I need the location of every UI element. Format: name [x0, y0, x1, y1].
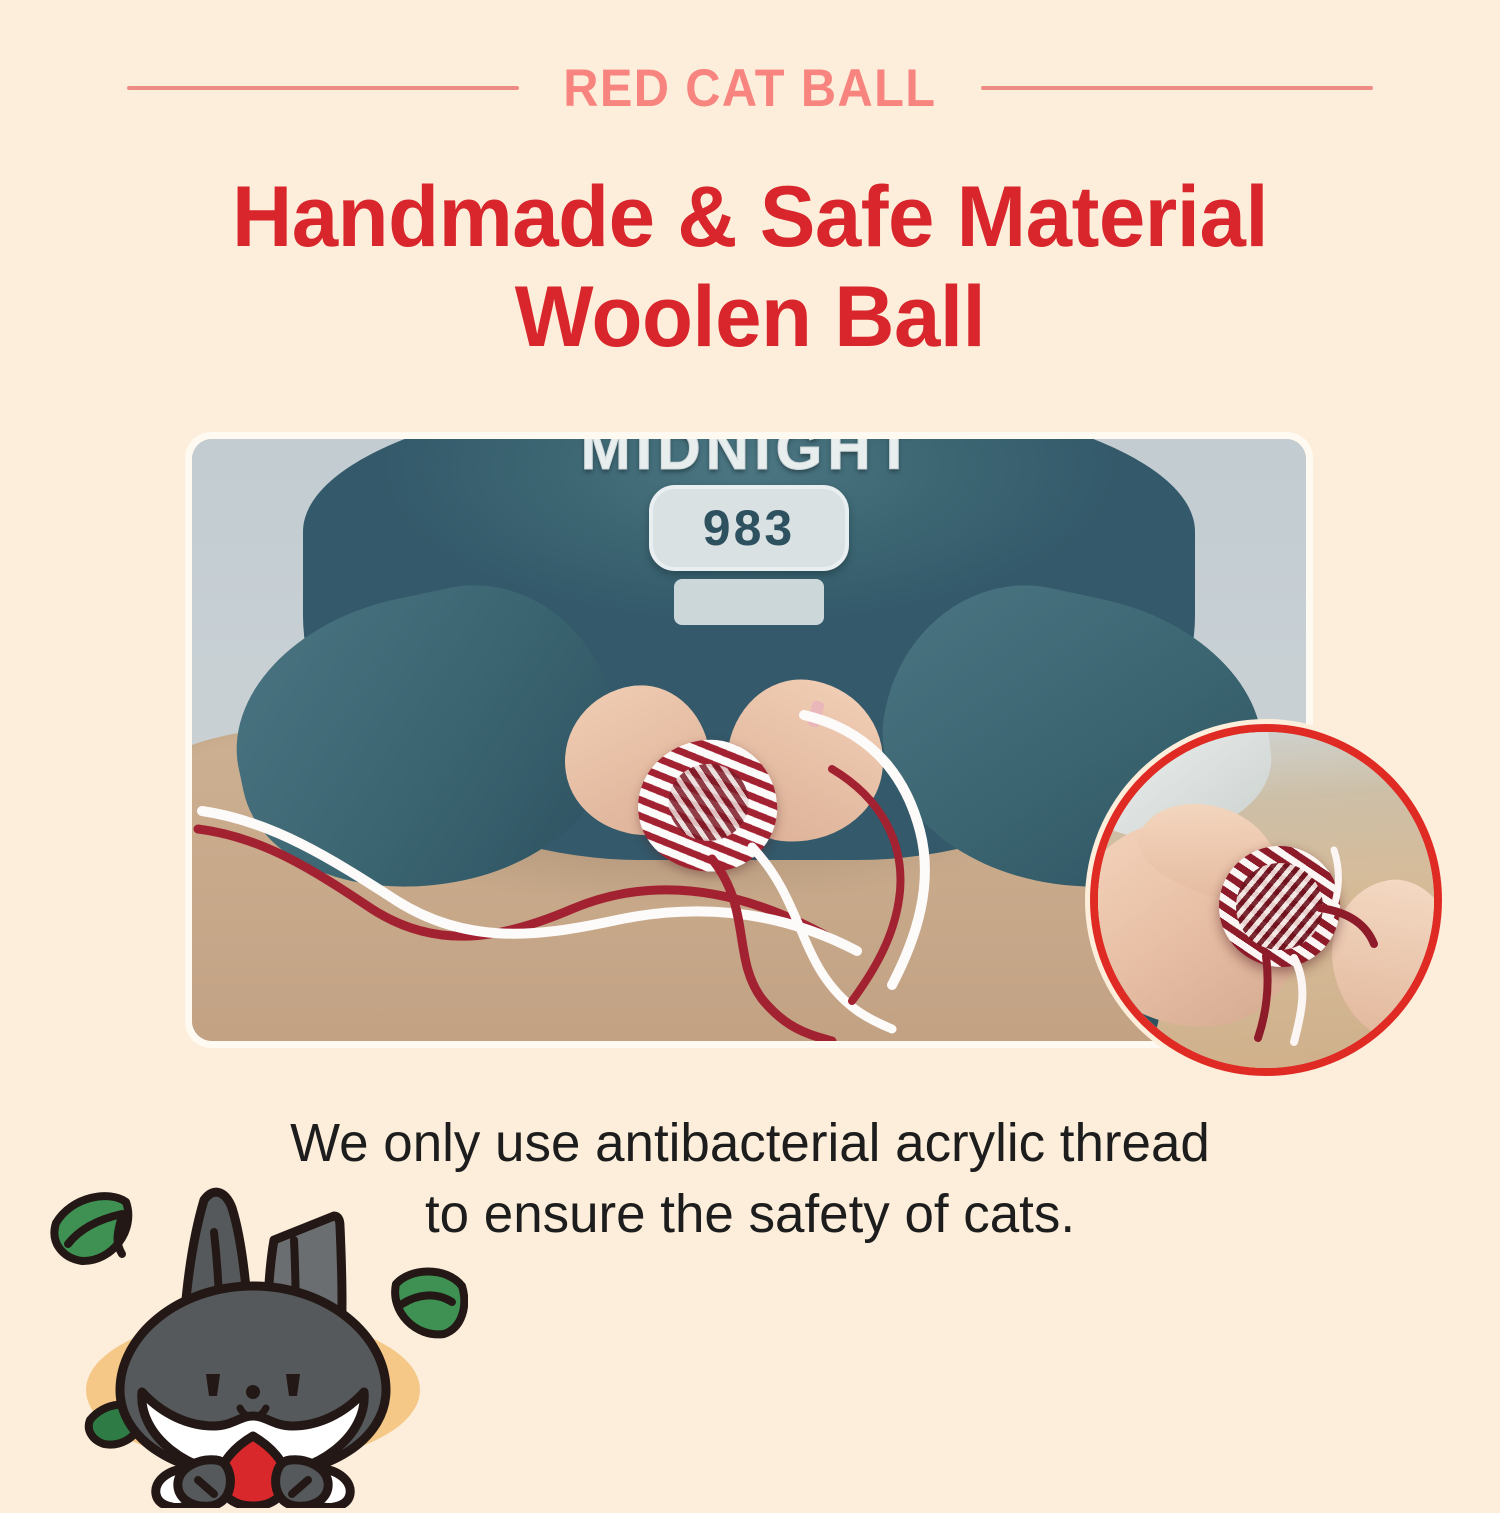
leaf-icon-right [395, 1272, 464, 1335]
inset-yarn-strands [1098, 732, 1434, 1068]
product-photo-inset [1090, 724, 1442, 1076]
eyebrow-rule-right [981, 86, 1373, 90]
mascot-nose [246, 1385, 260, 1399]
page-title: Handmade & Safe Material Woolen Ball [23, 168, 1478, 368]
headline-line-2: Woolen Ball [23, 268, 1478, 368]
eyebrow-row: RED CAT BALL [0, 50, 1500, 126]
leaf-icon-left [54, 1196, 128, 1261]
eyebrow-label: RED CAT BALL [563, 58, 936, 119]
eyebrow-rule-left [127, 86, 519, 90]
cat-mascot-illustration [38, 1168, 468, 1508]
headline-line-1: Handmade & Safe Material [232, 169, 1268, 265]
